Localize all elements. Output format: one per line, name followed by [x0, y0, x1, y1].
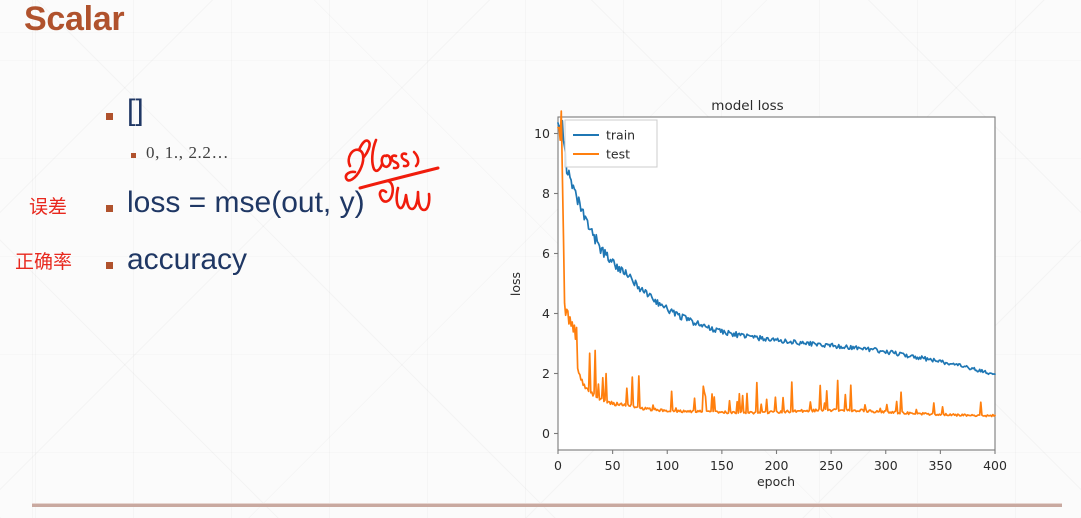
slide-canvas: Scalar [] 0, 1., 2.2… loss = mse(out, y)…	[0, 0, 1081, 518]
bullet-label: 0, 1., 2.2…	[146, 143, 229, 163]
y-tick-label: 4	[542, 306, 550, 321]
x-tick-label: 200	[765, 458, 789, 473]
x-tick-label: 350	[928, 458, 952, 473]
slide-footer-divider	[32, 503, 1062, 507]
x-tick-label: 0	[554, 458, 562, 473]
legend-label-train: train	[606, 128, 635, 143]
x-tick-label: 100	[655, 458, 679, 473]
x-tick-label: 250	[819, 458, 843, 473]
bullet-label: accuracy	[127, 243, 247, 277]
bullet-item-accuracy: accuracy	[106, 243, 247, 277]
y-tick-label: 8	[542, 186, 550, 201]
page-title: Scalar	[24, 0, 124, 39]
bullet-item-empty-list: []	[106, 94, 144, 128]
bullet-item-loss: loss = mse(out, y)	[106, 186, 365, 220]
y-axis-label: loss	[508, 272, 523, 296]
x-axis-ticks: 050100150200250300350400	[554, 450, 1007, 473]
x-tick-label: 150	[710, 458, 734, 473]
bullet-item-number-examples: 0, 1., 2.2…	[131, 143, 229, 163]
y-tick-label: 6	[542, 246, 550, 261]
y-axis-ticks: 0246810	[534, 126, 558, 441]
bullet-marker-icon	[106, 113, 113, 120]
x-tick-label: 400	[983, 458, 1007, 473]
bullet-marker-icon	[106, 205, 113, 212]
x-tick-label: 300	[874, 458, 898, 473]
y-tick-label: 2	[542, 366, 550, 381]
bullet-label: loss = mse(out, y)	[127, 186, 365, 220]
y-tick-label: 0	[542, 426, 550, 441]
chart-svg: 0246810 050100150200250300350400 epoch l…	[500, 92, 1060, 492]
x-tick-label: 50	[605, 458, 621, 473]
bullet-label: []	[127, 94, 144, 128]
error-note: 误差	[29, 192, 67, 219]
bullet-marker-icon	[131, 153, 136, 158]
legend-label-test: test	[606, 147, 630, 162]
y-tick-label: 10	[534, 126, 550, 141]
bullet-marker-icon	[106, 262, 113, 269]
x-axis-label: epoch	[757, 474, 795, 489]
chart-legend: traintest	[565, 120, 657, 167]
model-loss-chart: model loss 0246810 050100150200250300350…	[500, 92, 1060, 492]
accuracy-note: 正确率	[15, 247, 72, 274]
